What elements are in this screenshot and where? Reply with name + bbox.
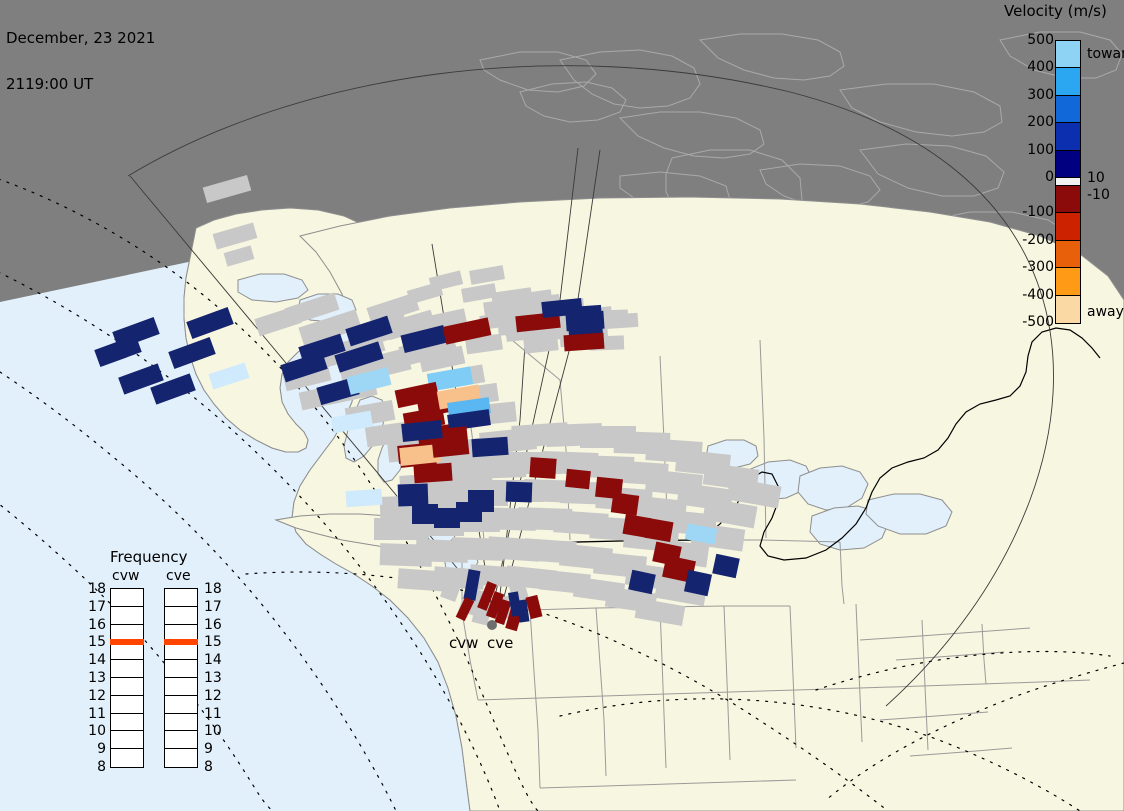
velocity-away-label: away (1087, 304, 1124, 320)
frequency-cell (111, 696, 143, 714)
station-label-cve: cve (487, 634, 513, 652)
frequency-tick-label: 17 (84, 599, 106, 615)
velocity-colorbar-panel: Velocity (m/s) 5004003002001000-100-200-… (995, 0, 1124, 340)
frequency-cell (165, 607, 197, 625)
velocity-tick-label: -200 (1022, 232, 1054, 248)
velocity-tick-label: 100 (1027, 142, 1054, 158)
velocity-colorbar-segment (1056, 241, 1080, 268)
velocity-tick-label: -300 (1022, 259, 1054, 275)
velocity-colorbar-segment (1056, 268, 1080, 295)
frequency-tick-label: 14 (204, 652, 222, 668)
frequency-tick-label: 8 (84, 759, 106, 775)
velocity-colorbar-segment (1056, 41, 1080, 68)
velocity-colorbar-segment (1056, 178, 1080, 186)
velocity-tick-label: -100 (1022, 204, 1054, 220)
frequency-cell (165, 678, 197, 696)
frequency-tick-label: 16 (84, 617, 106, 633)
frequency-cell (111, 589, 143, 607)
velocity-colorbar-segment (1056, 123, 1080, 150)
superdarn-velocity-map: December, 23 2021 2119:00 UT cvw cve Vel… (0, 0, 1124, 811)
frequency-tick-label: 12 (84, 688, 106, 704)
velocity-colorbar-segment (1056, 68, 1080, 95)
velocity-colorbar-segment (1056, 213, 1080, 240)
velocity-tick-label: 400 (1027, 59, 1054, 75)
velocity-colorbar-segment (1056, 296, 1080, 323)
station-label-cvw: cvw (449, 634, 478, 652)
frequency-tick-label: 16 (204, 617, 222, 633)
frequency-cell (165, 714, 197, 732)
frequency-tick-label: 15 (84, 634, 106, 650)
frequency-tick-label: 14 (84, 652, 106, 668)
timestamp-time: 2119:00 UT (6, 77, 155, 93)
velocity-inner-lower-label: -10 (1087, 187, 1110, 203)
frequency-tick-label: 13 (84, 670, 106, 686)
frequency-cell (111, 660, 143, 678)
frequency-tick-label: 17 (204, 599, 222, 615)
frequency-cell (165, 696, 197, 714)
frequency-bar-cvw[interactable] (110, 588, 144, 768)
frequency-tick-label: 10 (204, 723, 222, 739)
frequency-tick-label: 12 (204, 688, 222, 704)
frequency-tick-label: 11 (204, 706, 222, 722)
frequency-tick-label: 15 (204, 634, 222, 650)
velocity-tick-label: 0 (1045, 169, 1054, 185)
frequency-cell (165, 660, 197, 678)
frequency-tick-label: 10 (84, 723, 106, 739)
frequency-cell (111, 731, 143, 749)
frequency-cell (111, 714, 143, 732)
frequency-legend-title: Frequency (110, 548, 188, 566)
timestamp-date: December, 23 2021 (6, 31, 155, 47)
velocity-tick-label: 300 (1027, 87, 1054, 103)
frequency-tick-label: 9 (84, 741, 106, 757)
frequency-tick-label: 9 (204, 741, 213, 757)
velocity-tick-label: 200 (1027, 114, 1054, 130)
frequency-cell (165, 749, 197, 767)
velocity-inner-upper-label: 10 (1087, 170, 1105, 186)
frequency-tick-label: 8 (204, 759, 213, 775)
velocity-colorbar-segment (1056, 96, 1080, 123)
frequency-cell (111, 749, 143, 767)
velocity-colorbar-title: Velocity (m/s) (1004, 2, 1107, 20)
frequency-bar-cve[interactable] (164, 588, 198, 768)
frequency-tick-label: 13 (204, 670, 222, 686)
frequency-tick-label: 18 (84, 581, 106, 597)
frequency-tick-label: 11 (84, 706, 106, 722)
frequency-cell (165, 589, 197, 607)
velocity-colorbar-segment (1056, 186, 1080, 213)
frequency-tick-label: 18 (204, 581, 222, 597)
frequency-column-label-cvw: cvw (112, 568, 139, 584)
velocity-colorbar[interactable] (1055, 40, 1081, 324)
velocity-toward-label: toward (1087, 46, 1124, 62)
velocity-tick-label: 500 (1027, 32, 1054, 48)
velocity-colorbar-segment (1056, 151, 1080, 178)
frequency-column-label-cve: cve (166, 568, 191, 584)
frequency-cell (165, 731, 197, 749)
radar-station-marker[interactable] (487, 620, 497, 630)
frequency-cell (111, 678, 143, 696)
frequency-marker-cvw (110, 639, 144, 645)
velocity-tick-label: -400 (1022, 287, 1054, 303)
timestamp: December, 23 2021 2119:00 UT (6, 1, 155, 123)
velocity-tick-label: -500 (1022, 314, 1054, 330)
frequency-legend-panel: Frequency cvw18171615141312111098cve1817… (88, 548, 238, 778)
frequency-marker-cve (164, 639, 198, 645)
frequency-cell (111, 607, 143, 625)
